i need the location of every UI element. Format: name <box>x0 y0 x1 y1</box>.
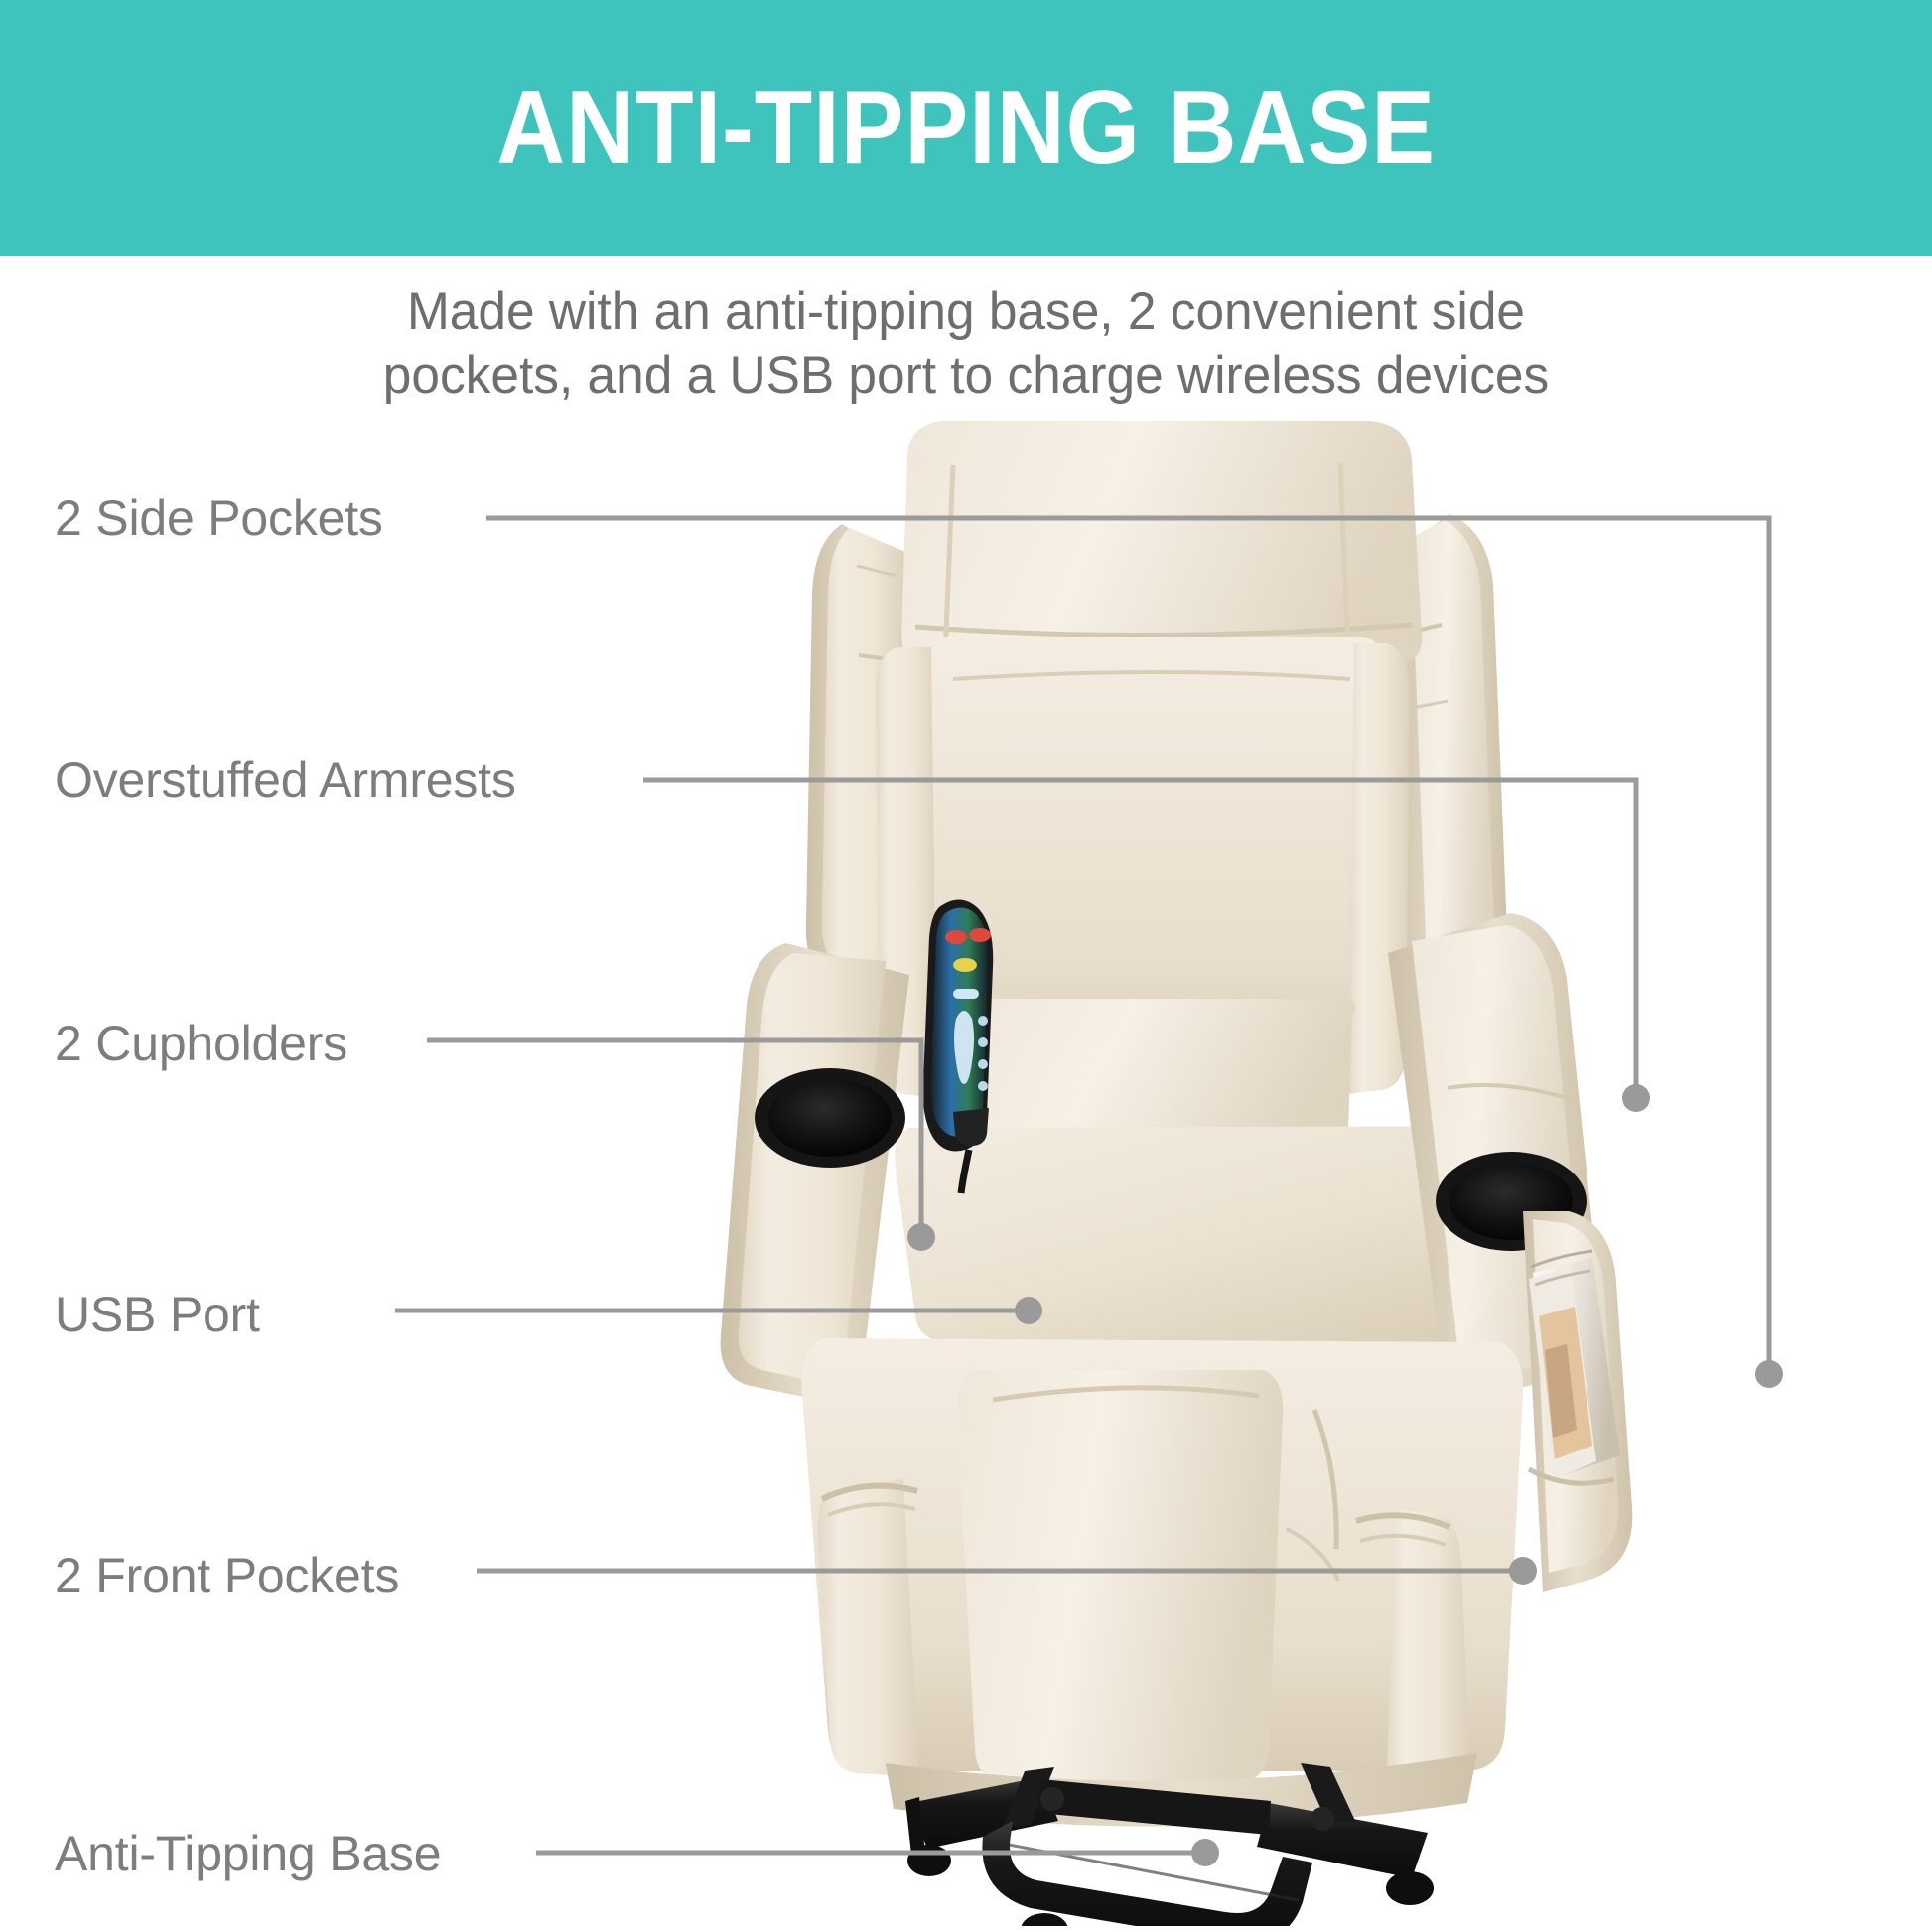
callout-label-cupholders: 2 Cupholders <box>55 1015 347 1072</box>
base-foot-rear-right <box>1386 1871 1434 1905</box>
callout-label-usb-port: USB Port <box>55 1286 260 1343</box>
cupholder-left <box>768 1079 892 1157</box>
chair-lumbar-pillow <box>948 999 1355 1148</box>
remote-indicator <box>953 989 979 999</box>
base-foot-front-left <box>1021 1913 1068 1926</box>
base-bolt-right <box>1311 1807 1334 1831</box>
chair-front-center-panel <box>957 1370 1283 1783</box>
remote-button-red-2 <box>969 928 991 942</box>
front-pocket-left <box>818 1479 919 1777</box>
callout-label-front-pockets: 2 Front Pockets <box>55 1547 399 1604</box>
remote-button-red <box>945 930 967 944</box>
subtitle-line-1: Made with an anti-tipping base, 2 conven… <box>29 280 1903 345</box>
page-title: ANTI-TIPPING BASE <box>496 76 1436 180</box>
header-band: ANTI-TIPPING BASE <box>0 0 1932 256</box>
subtitle-text: Made with an anti-tipping base, 2 conven… <box>29 280 1903 408</box>
base-bolt-left <box>1040 1787 1064 1811</box>
callout-label-side-pockets: 2 Side Pockets <box>55 489 383 547</box>
recliner-illustration <box>655 417 1797 1926</box>
side-pocket-right <box>1523 1211 1632 1592</box>
base-foot-rear-left <box>907 1845 951 1876</box>
remote-button-yellow <box>953 958 977 972</box>
product-image <box>655 417 1797 1926</box>
callout-label-anti-tip-base: Anti-Tipping Base <box>55 1825 441 1882</box>
subtitle-line-2: pockets, and a USB port to charge wirele… <box>29 345 1903 409</box>
infographic-root: ANTI-TIPPING BASE Made with an anti-tipp… <box>0 0 1932 1932</box>
callout-label-armrests: Overstuffed Armrests <box>55 752 516 809</box>
